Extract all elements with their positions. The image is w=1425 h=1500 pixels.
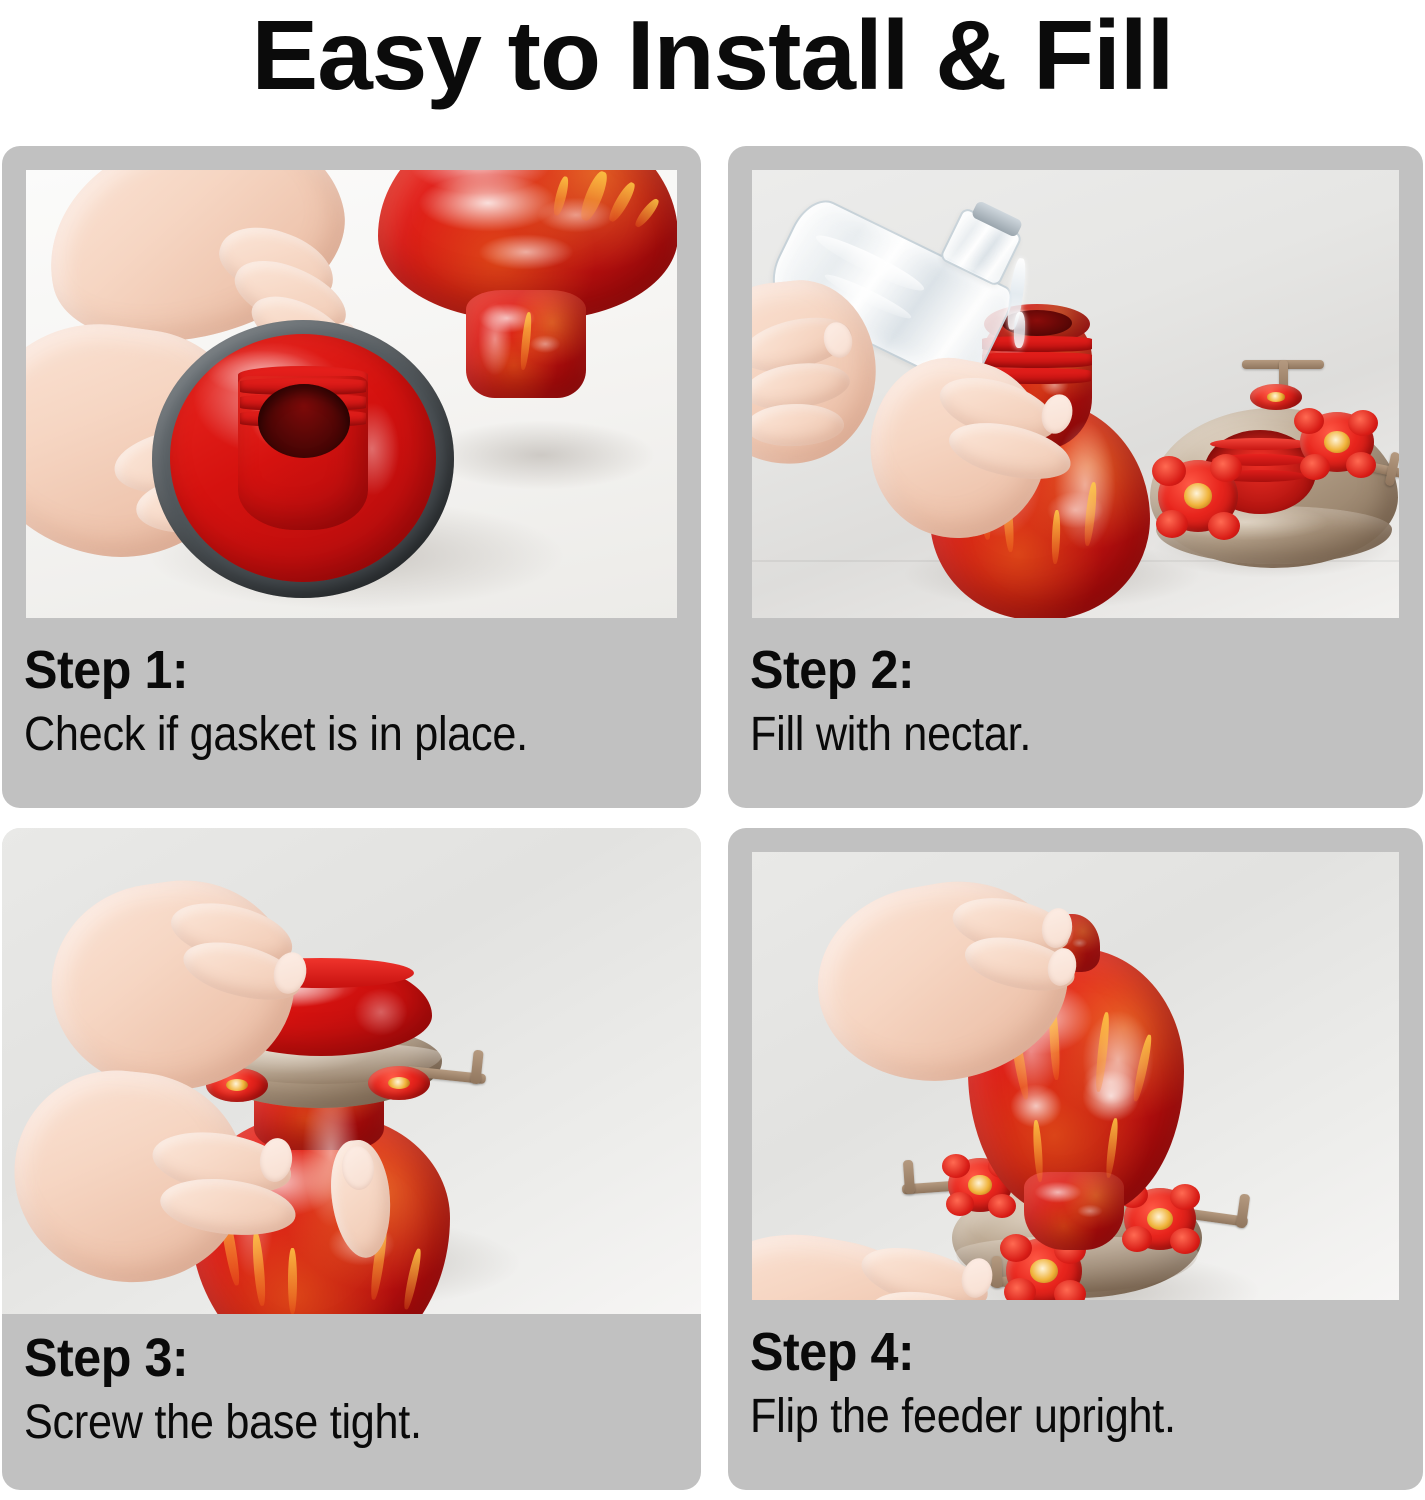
instruction-graphic: Easy to Install & Fill bbox=[0, 0, 1425, 1500]
step-4-photo bbox=[752, 852, 1399, 1300]
step-1-caption: Step 1: Check if gasket is in place. bbox=[24, 640, 681, 764]
step-card-1: Step 1: Check if gasket is in place. bbox=[2, 146, 701, 808]
step-2-photo bbox=[752, 170, 1399, 618]
step-4-label: Step 4: bbox=[750, 1322, 1357, 1382]
step-2-caption: Step 2: Fill with nectar. bbox=[750, 640, 1403, 764]
step-3-label: Step 3: bbox=[24, 1328, 635, 1388]
page-title: Easy to Install & Fill bbox=[0, 2, 1425, 108]
step-4-caption: Step 4: Flip the feeder upright. bbox=[750, 1322, 1403, 1446]
step-3-description: Screw the base tight. bbox=[24, 1394, 615, 1452]
step-card-2: Step 2: Fill with nectar. bbox=[728, 146, 1423, 808]
step-1-label: Step 1: bbox=[24, 640, 635, 700]
step-card-3: Step 3: Screw the base tight. bbox=[2, 828, 701, 1490]
steps-grid: Step 1: Check if gasket is in place. bbox=[2, 146, 1423, 1492]
step-3-photo bbox=[2, 828, 701, 1314]
step-2-label: Step 2: bbox=[750, 640, 1357, 700]
step-1-description: Check if gasket is in place. bbox=[24, 706, 615, 764]
step-card-4: Step 4: Flip the feeder upright. bbox=[728, 828, 1423, 1490]
step-4-description: Flip the feeder upright. bbox=[750, 1388, 1338, 1446]
step-2-description: Fill with nectar. bbox=[750, 706, 1338, 764]
step-1-photo bbox=[26, 170, 677, 618]
step-3-caption: Step 3: Screw the base tight. bbox=[24, 1328, 681, 1452]
